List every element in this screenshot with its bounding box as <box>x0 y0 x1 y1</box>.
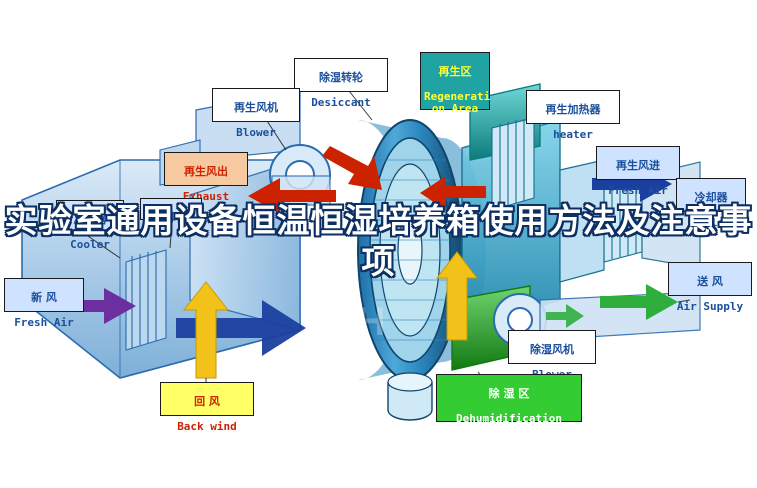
label-cooler-left-en: Cooler <box>60 239 120 251</box>
label-dehumidification-district: 除 湿 区 Dehumidification District <box>436 374 582 422</box>
label-regen-heater: 再生加热器 heater <box>526 90 620 124</box>
label-regen-blower-cn: 再生风机 <box>216 102 296 114</box>
label-air-supply: 送 风 Air Supply <box>668 262 752 296</box>
label-regen-heater-cn: 再生加热器 <box>530 104 616 116</box>
label-regen-fresh-air: 再生风进 Fresh Air <box>596 146 680 180</box>
label-regen-fresh-air-cn: 再生风进 <box>600 160 676 172</box>
label-air-supply-en: Air Supply <box>672 301 748 313</box>
label-regeneration-en: Regenerati on Area <box>424 91 486 116</box>
label-fresh-air-cn: 新 风 <box>8 292 80 304</box>
label-back-wind: 回 风 Back wind <box>160 382 254 416</box>
label-dehum-blower: 除湿风机 Blower <box>508 330 596 364</box>
label-regen-blower-en: Blower <box>216 127 296 139</box>
label-exhaust: 再生风出 Exhaust <box>164 152 248 186</box>
label-fresh-air: 新 风 Fresh Air <box>4 278 84 312</box>
label-dehum-district-en: Dehumidification District <box>440 413 578 438</box>
label-back-wind-cn: 回 风 <box>164 396 250 408</box>
label-cooler-mid: 冷却器 <box>140 198 202 220</box>
label-fresh-air-en: Fresh Air <box>8 317 80 329</box>
label-dehum-blower-cn: 除湿风机 <box>512 344 592 356</box>
label-regen-blower: 再生风机 Blower <box>212 88 300 122</box>
label-desiccant-cn: 除湿转轮 <box>298 72 384 84</box>
label-cooler-left-cn: 冷却器 <box>60 214 120 226</box>
diagram-canvas: 除湿转轮 Desiccant 再生区 Regenerati on Area 再生… <box>0 0 757 488</box>
label-cooler-right-cn: 冷却器 <box>680 192 742 204</box>
label-regeneration-cn: 再生区 <box>424 66 486 78</box>
label-back-wind-en: Back wind <box>164 421 250 433</box>
label-cooler-mid-cn: 冷却器 <box>144 212 198 224</box>
label-cooler-left: 冷却器 Cooler <box>56 200 124 234</box>
label-cooler-right-en: Cooler <box>680 217 742 229</box>
label-dehum-district-cn: 除 湿 区 <box>440 388 578 400</box>
label-cooler-right: 冷却器 Cooler <box>676 178 746 212</box>
label-exhaust-cn: 再生风出 <box>168 166 244 178</box>
label-desiccant: 除湿转轮 Desiccant <box>294 58 388 92</box>
label-regen-fresh-air-en: Fresh Air <box>600 185 676 197</box>
label-regen-heater-en: heater <box>530 129 616 141</box>
arrow-regen-top <box>322 146 382 190</box>
label-air-supply-cn: 送 风 <box>672 276 748 288</box>
label-regeneration-area: 再生区 Regenerati on Area <box>420 52 490 110</box>
label-desiccant-en: Desiccant <box>298 97 384 109</box>
